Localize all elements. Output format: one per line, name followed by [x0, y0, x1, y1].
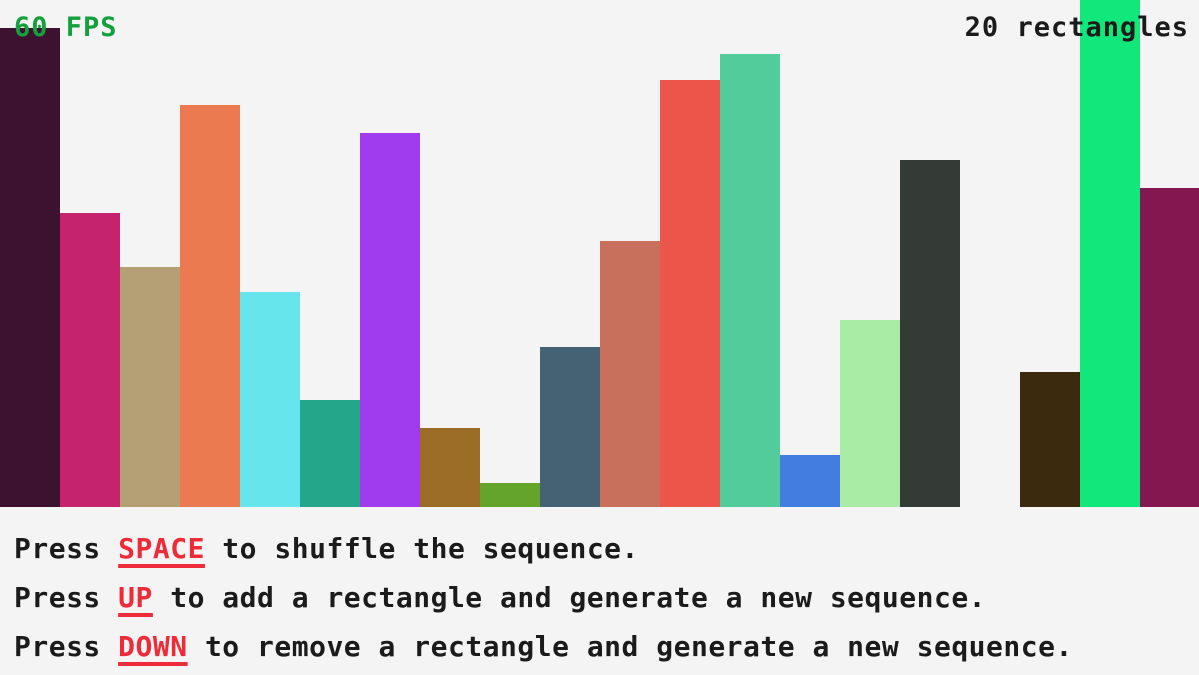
instruction-prefix: Press: [14, 630, 118, 663]
instruction-line-up: Press UP to add a rectangle and generate…: [14, 573, 1199, 622]
instruction-prefix: Press: [14, 581, 118, 614]
instruction-line-down: Press DOWN to remove a rectangle and gen…: [14, 622, 1199, 671]
bar-rectangle: [600, 241, 660, 507]
bar-rectangle: [420, 428, 480, 507]
instruction-suffix: to shuffle the sequence.: [205, 532, 639, 565]
fps-counter: 60 FPS: [14, 12, 118, 43]
bar-rectangle: [60, 213, 120, 507]
bar-rectangle: [780, 455, 840, 507]
instruction-suffix: to remove a rectangle and generate a new…: [188, 630, 1073, 663]
bar-rectangle: [720, 54, 780, 507]
instruction-prefix: Press: [14, 532, 118, 565]
bar-rectangle: [660, 80, 720, 507]
bar-rectangle: [540, 347, 600, 507]
bar-rectangle: [0, 28, 60, 507]
instruction-line-space: Press SPACE to shuffle the sequence.: [14, 524, 1199, 573]
bar-rectangle: [1020, 372, 1080, 507]
rectangle-count-label: 20 rectangles: [965, 12, 1189, 43]
bar-rectangle: [1080, 0, 1140, 507]
key-up[interactable]: UP: [118, 581, 153, 614]
bar-rectangle: [1140, 188, 1199, 507]
bar-rectangle: [360, 133, 420, 507]
game-canvas: 60 FPS 20 rectangles Press SPACE to shuf…: [0, 0, 1199, 675]
bar-rectangle: [300, 400, 360, 507]
instruction-suffix: to add a rectangle and generate a new se…: [153, 581, 986, 614]
bar-rectangle: [480, 483, 540, 507]
bar-rectangle: [900, 160, 960, 507]
bar-chart-plot: [0, 0, 1199, 507]
key-down[interactable]: DOWN: [118, 630, 187, 663]
bar-rectangle: [180, 105, 240, 507]
bar-rectangle: [240, 292, 300, 507]
bar-rectangle: [840, 320, 900, 507]
key-space[interactable]: SPACE: [118, 532, 205, 565]
instructions-panel: Press SPACE to shuffle the sequence. Pre…: [0, 507, 1199, 675]
bar-rectangle: [120, 267, 180, 507]
